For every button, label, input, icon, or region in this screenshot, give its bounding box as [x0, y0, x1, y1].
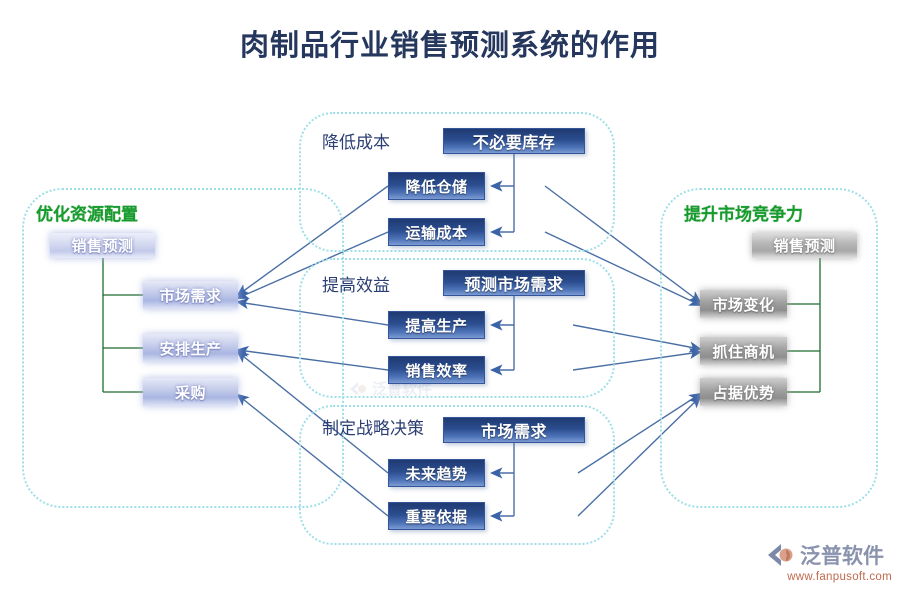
- left-item-box-2[interactable]: 采购: [143, 378, 238, 406]
- group-heading-1: 提高效益: [322, 271, 390, 296]
- panel-market-competitiveness-heading: 提升市场竞争力: [684, 200, 803, 225]
- group-item-box-2-1[interactable]: 重要依据: [388, 502, 485, 530]
- group-item-box-0-1[interactable]: 运输成本: [388, 218, 485, 246]
- brand-logo: 泛普软件 www.fanpusoft.com: [766, 540, 892, 583]
- group-head-box-1[interactable]: 预测市场需求: [443, 270, 585, 296]
- logo-url: www.fanpusoft.com: [766, 571, 892, 583]
- page-title: 肉制品行业销售预测系统的作用: [0, 22, 900, 64]
- diagram-canvas: 泛普软件 肉制品行业销售预测系统的作用: [0, 0, 900, 600]
- group-item-box-2-0[interactable]: 未来趋势: [388, 459, 485, 487]
- right-item-box-2[interactable]: 占据优势: [700, 378, 787, 406]
- group-item-box-1-0[interactable]: 提高生产: [388, 311, 485, 339]
- logo-mark-icon: [766, 542, 796, 568]
- left-item-box-1[interactable]: 安排生产: [143, 334, 238, 362]
- group-head-box-0[interactable]: 不必要库存: [443, 128, 585, 154]
- right-root-box[interactable]: 销售预测: [752, 233, 857, 258]
- group-heading-2: 制定战略决策: [322, 414, 424, 439]
- group-item-box-0-0[interactable]: 降低仓储: [388, 172, 485, 200]
- group-heading-0: 降低成本: [322, 128, 390, 153]
- left-root-box[interactable]: 销售预测: [50, 233, 155, 258]
- group-item-box-1-1[interactable]: 销售效率: [388, 356, 485, 384]
- left-item-box-0[interactable]: 市场需求: [143, 281, 238, 309]
- group-head-box-2[interactable]: 市场需求: [443, 417, 585, 443]
- logo-name: 泛普软件: [800, 540, 884, 570]
- right-item-box-1[interactable]: 抓住商机: [700, 337, 787, 365]
- right-item-box-0[interactable]: 市场变化: [700, 290, 787, 318]
- panel-optimize-resources-heading: 优化资源配置: [36, 200, 138, 225]
